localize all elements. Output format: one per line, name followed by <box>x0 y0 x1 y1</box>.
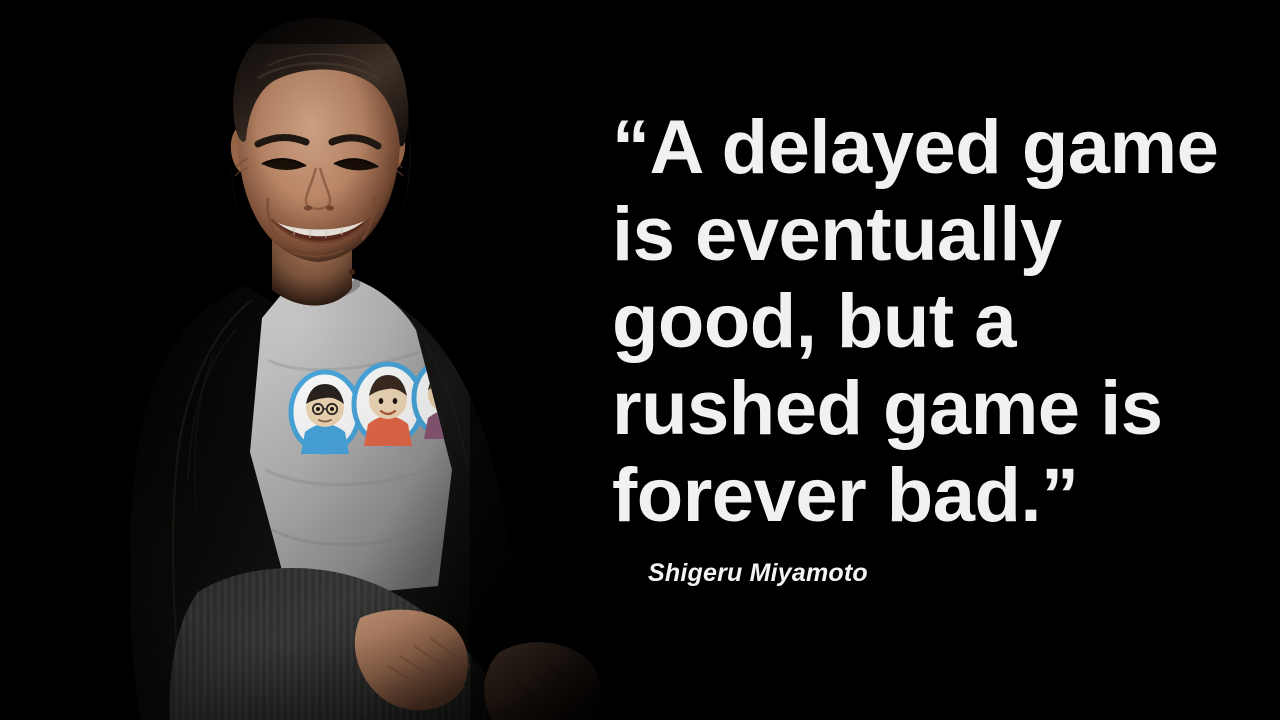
quote-line-1: “A delayed game <box>612 104 1212 191</box>
quote-line-2: is eventually <box>612 191 1212 278</box>
quote-line-3: good, but a <box>612 278 1212 365</box>
quote-text: “A delayed game is eventually good, but … <box>612 104 1212 539</box>
quote-card: “A delayed game is eventually good, but … <box>0 0 1280 720</box>
quote-line-5: forever bad.” <box>612 452 1212 539</box>
portrait-photo <box>0 0 600 720</box>
quote-line-4: rushed game is <box>612 365 1212 452</box>
quote-attribution: Shigeru Miyamoto <box>648 558 868 588</box>
